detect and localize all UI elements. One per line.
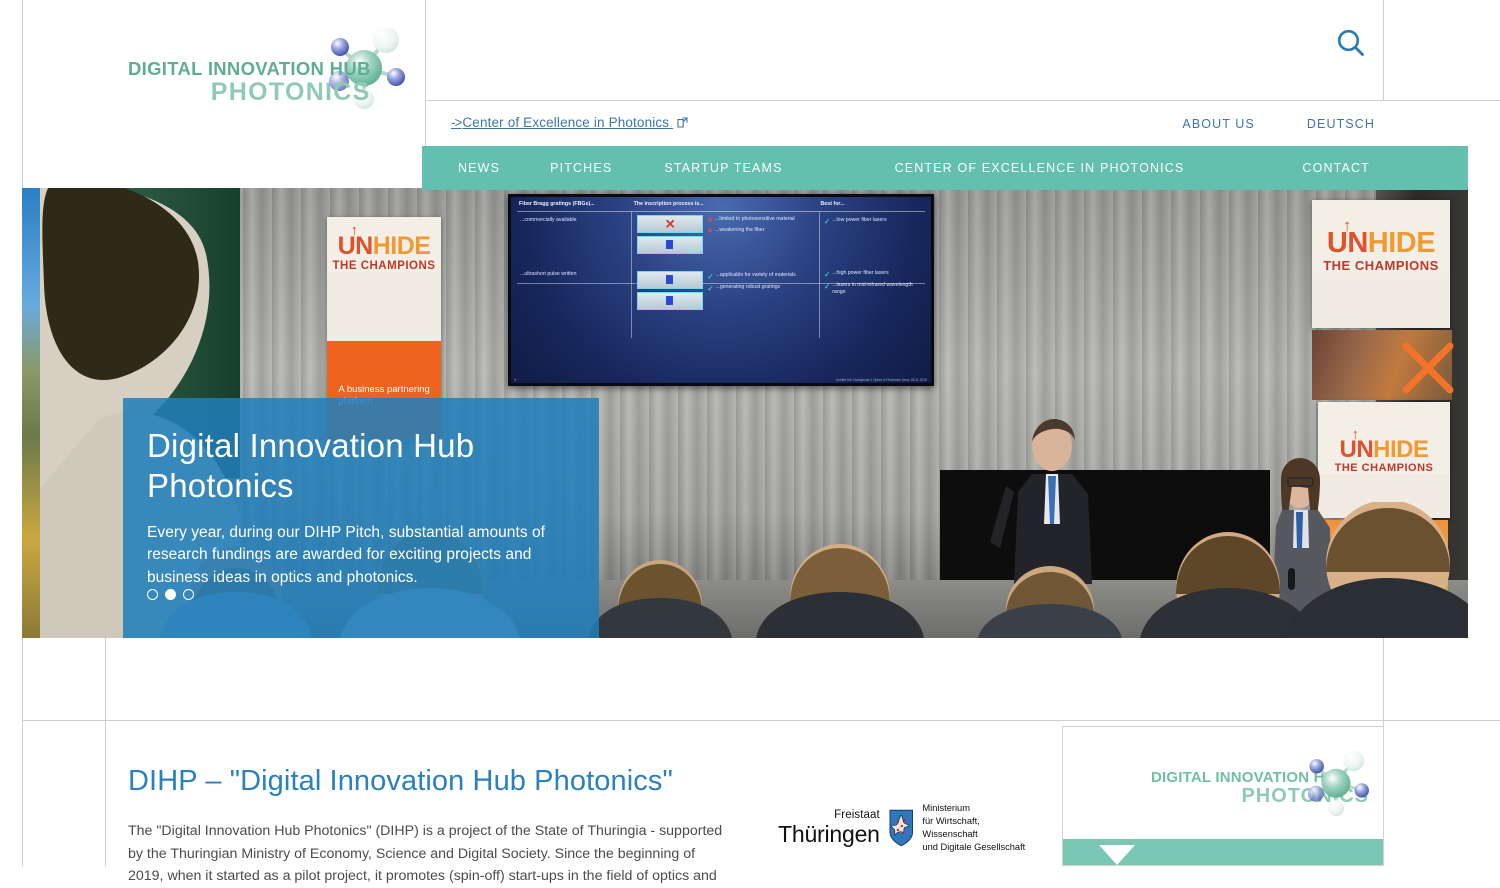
slide-body: ...commercially available ...ultrashort … (517, 212, 925, 354)
logo-line-2: PHOTONICS (128, 80, 371, 106)
search-button[interactable] (1334, 27, 1368, 61)
coe-link-label: Center of Excellence in Photonics (462, 115, 669, 130)
sidebar-teaser-card[interactable]: DIGITAL INNOVATION HUB PHOTONICS (1062, 726, 1384, 866)
ministry-line-2: für Wirtschaft, Wissenschaft (922, 815, 1036, 841)
slide-footer-note: Unhide the Champions // Optics & Photoni… (836, 378, 927, 382)
main-navigation: NEWS PITCHES STARTUP TEAMS CENTER OF EXC… (422, 146, 1468, 190)
slide-figure-4 (637, 292, 703, 310)
slide-table: Fiber Bragg gratings (FBGs)... The inscr… (517, 201, 925, 373)
slide-header-col3: Best for... (818, 201, 925, 208)
nav-item-center-of-excellence[interactable]: CENTER OF EXCELLENCE IN PHOTONICS (895, 161, 1185, 175)
ministry-name: Ministerium für Wirtschaft, Wissenschaft… (922, 802, 1036, 853)
x-mark-icon (1400, 340, 1456, 396)
slide-r1-col2-item-1: ✕ ...weakening the fiber (707, 227, 794, 235)
nav-item-startup-teams[interactable]: STARTUP TEAMS (664, 161, 782, 175)
utility-links: ABOUT US DEUTSCH (1182, 117, 1375, 131)
arrow-up-icon: ↑ (1343, 217, 1352, 234)
nav-item-contact[interactable]: CONTACT (1302, 161, 1370, 175)
nav-item-pitches[interactable]: PITCHES (550, 161, 612, 175)
slide-r2-col2-item-0: ✓ ...applicable for variety of materials (707, 272, 795, 281)
slide-r1-col1: ...commercially available (517, 212, 631, 224)
hero-title: Digital Innovation Hub Photonics (123, 398, 599, 506)
thuringia-wordmark: Freistaat Thüringen (778, 810, 880, 846)
check-icon: ✓ (824, 217, 830, 226)
banner-subline: THE CHAMPIONS (1312, 258, 1450, 273)
slide-r1-col3-item-0: ✓ ...low power fiber lasers (824, 217, 925, 226)
cross-icon: ✕ (707, 216, 713, 224)
check-icon: ✓ (707, 272, 713, 281)
slide-r2-col1: ...ultrashort pulse written (517, 266, 631, 278)
molecule-icon (1299, 751, 1373, 817)
check-icon: ✓ (824, 270, 830, 279)
hero-slider: Fiber Bragg gratings (FBGs)... The inscr… (22, 188, 1468, 638)
slider-dot-1[interactable] (147, 589, 158, 600)
sidebar-card-logo: DIGITAL INNOVATION HUB PHOTONICS (1151, 769, 1369, 831)
cross-icon: ✕ (707, 227, 713, 235)
grid-line-horizontal-content (22, 720, 1500, 721)
check-icon: ✓ (707, 284, 713, 293)
slide-r2-col3-item-1: ✓ ...lasers in mid-infrared wavelength r… (824, 282, 925, 296)
slide-r2-col3-item-0: ✓ ...high power fiber lasers (824, 270, 925, 279)
thuringia-ministry-logo: Freistaat Thüringen Ministerium für Wirt… (778, 802, 1036, 854)
coe-external-link[interactable]: ->Center of Excellence in Photonics (451, 115, 688, 130)
search-icon (1334, 27, 1368, 61)
about-us-link[interactable]: ABOUT US (1182, 117, 1254, 131)
logo-line-1: DIGITAL INNOVATION HUB (128, 60, 371, 79)
slide-figure-2 (637, 236, 703, 254)
intro-paragraph: The "Digital Innovation Hub Photonics" (… (128, 820, 724, 887)
slide-r2-col2-item-1: ✓ ...generating robust gratings (707, 284, 795, 293)
site-logo-text: DIGITAL INNOVATION HUB PHOTONICS (128, 60, 371, 105)
rollup-right-photo-panel (1312, 330, 1452, 400)
presentation-slide: Fiber Bragg gratings (FBGs)... The inscr… (511, 197, 931, 383)
slider-dots (147, 589, 194, 600)
nav-item-news[interactable]: NEWS (458, 161, 500, 175)
slider-dot-3[interactable] (183, 589, 194, 600)
sidebar-card-notch (1099, 845, 1135, 865)
hero-subtitle: Every year, during our DIHP Pitch, subst… (123, 506, 599, 590)
site-header: DIGITAL INNOVATION HUB PHOTONICS ->Cente… (0, 0, 1500, 190)
utility-bar: ->Center of Excellence in Photonics ABOU… (426, 101, 1468, 146)
rollup-right-top-inner: ↑ UNHIDE THE CHAMPIONS (1312, 200, 1450, 273)
ministry-line-3: und Digitale Gesellschaft (922, 841, 1036, 854)
hero-caption: Digital Innovation Hub Photonics Every y… (123, 398, 599, 638)
slide-figure-1: ✕ (637, 215, 703, 233)
thuringia-crest-icon (889, 809, 914, 847)
arrow-up-icon: ↑ (1351, 427, 1359, 442)
coe-arrow: -> (451, 115, 461, 130)
external-link-icon (677, 117, 688, 128)
slider-dot-2[interactable] (165, 589, 176, 600)
language-switch-link[interactable]: DEUTSCH (1307, 117, 1375, 131)
slide-figure-3 (637, 271, 703, 289)
rollup-left-top: ↑ UNHIDE THE CHAMPIONS (327, 217, 441, 272)
ministry-line-1: Ministerium (922, 802, 1036, 815)
check-icon: ✓ (824, 282, 830, 296)
thuringia-state-name: Thüringen (778, 823, 880, 846)
site-logo[interactable]: DIGITAL INNOVATION HUB PHOTONICS (128, 36, 398, 116)
banner-subline: THE CHAMPIONS (327, 260, 441, 272)
grid-line-vertical-inner (105, 638, 106, 866)
slide-page-number: 3 (514, 378, 516, 382)
slide-header-col2: The inscription process is... (632, 201, 819, 208)
slide-header-row: Fiber Bragg gratings (FBGs)... The inscr… (517, 201, 925, 212)
slide-r1-col2-item-0: ✕ ...limited to photosensitive material (707, 216, 794, 224)
hero-previous-slide-sliver (22, 188, 40, 638)
slide-header-col1: Fiber Bragg gratings (FBGs)... (517, 201, 632, 208)
rollup-banner-right-top: ↑ UNHIDE THE CHAMPIONS (1312, 200, 1450, 328)
arrow-up-icon: ↑ (351, 223, 359, 238)
page-title: DIHP – "Digital Innovation Hub Photonics… (128, 765, 673, 798)
presentation-screen: Fiber Bragg gratings (FBGs)... The inscr… (508, 194, 934, 386)
